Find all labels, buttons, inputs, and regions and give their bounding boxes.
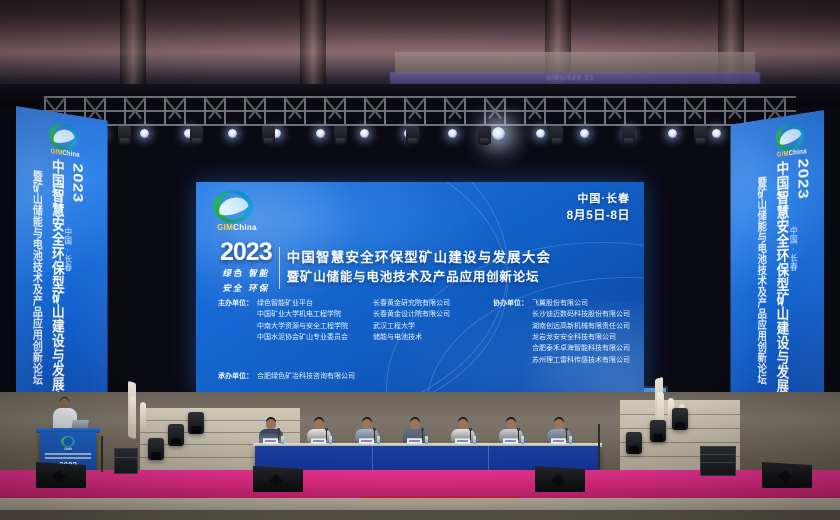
coorganizer-label: 协办单位： <box>493 298 528 366</box>
table-microphone <box>470 430 471 440</box>
host-organization: 中南大学资源与安全工程学院 <box>257 321 369 332</box>
stage-moving-head-light <box>148 438 164 460</box>
water-bottle <box>377 436 380 444</box>
light-stand <box>101 436 103 472</box>
truss-member <box>124 97 142 119</box>
wall-column <box>300 0 326 96</box>
moving-head-light <box>694 126 707 144</box>
moving-head-light <box>118 126 131 144</box>
stage-moving-head-light <box>626 432 642 454</box>
stage-light <box>668 129 677 138</box>
truss-member <box>364 97 382 119</box>
moving-head-light <box>478 126 491 144</box>
main-led-screen: GIMChina 中国·长春 8月5日-8日 2023 绿色 智能 安全 环保 … <box>196 182 644 392</box>
stage-monitor-speaker <box>36 462 86 488</box>
panelist-nameplate <box>311 438 326 444</box>
panelist-nameplate <box>455 438 470 444</box>
undertaker-label: 承办单位： <box>218 371 253 382</box>
truss-member <box>684 97 702 119</box>
table-microphone <box>566 430 567 440</box>
truss-member <box>404 97 422 119</box>
light-lens <box>629 446 639 454</box>
flight-case <box>700 446 736 476</box>
panelist-nameplate <box>263 438 278 444</box>
panelist-nameplate <box>551 438 566 444</box>
coorganizer-name: 苏州理工雷科传感技术有限公司 <box>532 355 630 366</box>
truss-member <box>604 97 622 119</box>
flight-case <box>114 448 138 474</box>
truss-member <box>564 97 582 119</box>
stage-light <box>360 129 369 138</box>
coorganizer-list: 飞翼股份有限公司长沙迪迈数码科技股份有限公司湖南创远高新机械有限责任公司龙岩龙安… <box>532 298 630 366</box>
truss-member <box>444 97 462 119</box>
light-lens <box>171 438 181 446</box>
truss-member <box>644 97 662 119</box>
host-organizations-col1: 绿色智能矿业平台中国矿业大学机电工程学院中南大学资源与安全工程学院中国水泥协会矿… <box>257 298 369 366</box>
banner-left-year: 2023 <box>69 162 85 203</box>
banner-right-city: 中国·长春 <box>789 226 797 271</box>
stage-front-edge <box>0 510 840 520</box>
gim-logo-icon: GIMChina <box>206 190 268 236</box>
ceiling-strip-text: SIRUS48 21 <box>405 73 735 84</box>
banner-left-city: 中国·长春 <box>64 227 72 271</box>
host-organization: 中国矿业大学机电工程学院 <box>257 309 369 320</box>
stage-light <box>580 129 589 138</box>
event-city: 中国·长春 <box>566 192 630 207</box>
truss-member <box>204 97 222 119</box>
truss-member <box>484 97 502 119</box>
moving-head-light <box>262 126 275 144</box>
event-dates: 8月5日-8日 <box>566 207 630 223</box>
banner-right-title-main: 中国智慧安全环保型矿山建设与发展大会 <box>776 160 789 422</box>
banner-right-year: 2023 <box>794 157 811 200</box>
gim-logo-gim-text: GIM <box>50 148 62 156</box>
coorganizer-name: 飞翼股份有限公司 <box>532 298 630 309</box>
event-title-sub: 暨矿山储能与电池技术及产品应用创新论坛 <box>287 269 552 285</box>
gim-logo-gim-text: GIM <box>777 151 789 159</box>
gim-logo-icon: GIMChina <box>42 120 87 159</box>
stage-light <box>492 127 505 140</box>
host-organization: 储能与电池技术 <box>373 332 483 343</box>
moving-head-light <box>406 126 419 144</box>
water-bottle <box>329 436 332 444</box>
panelist-nameplate <box>407 438 422 444</box>
stage-light <box>316 129 325 138</box>
undertaker-name: 合肥绿色矿冶科技咨询有限公司 <box>257 371 355 382</box>
stage-moving-head-light <box>188 412 204 434</box>
title-divider <box>279 247 280 289</box>
coorganizer-name: 湖南创远高新机械有限责任公司 <box>532 321 630 332</box>
coorganizer-name: 龙岩龙安安全科技有限公司 <box>532 332 630 343</box>
truss-member <box>324 97 342 119</box>
speaker-head <box>60 398 69 408</box>
stage-monitor-speaker <box>762 462 812 488</box>
moving-head-light <box>550 126 563 144</box>
table-microphone <box>518 430 519 440</box>
host-organizations-col2: 长春黄金研究院有限公司长春黄金设计院有限公司武汉工程大学储能与电池技术 <box>373 298 483 366</box>
event-title-block: 2023 绿色 智能 安全 环保 中国智慧安全环保型矿山建设与发展大会 暨矿山储… <box>220 240 551 296</box>
event-slogan-line1: 绿色 智能 <box>220 268 272 280</box>
water-bottle <box>473 436 476 444</box>
stage-light <box>140 129 149 138</box>
host-organization: 武汉工程大学 <box>373 321 483 332</box>
water-bottle <box>281 436 284 444</box>
panelist-nameplate <box>503 438 518 444</box>
table-microphone <box>374 430 375 440</box>
event-location-block: 中国·长春 8月5日-8日 <box>566 192 630 223</box>
event-year-block: 2023 绿色 智能 安全 环保 <box>220 240 272 296</box>
panelist-nameplate <box>359 438 374 444</box>
light-lens <box>653 434 663 442</box>
light-lens <box>191 426 201 434</box>
truss-member <box>164 97 182 119</box>
stage-light <box>448 129 457 138</box>
truss-member <box>764 97 782 119</box>
coorganizer-name: 合肥泰禾卓海智能科技有限公司 <box>532 343 630 354</box>
truss-member <box>244 97 262 119</box>
stage-moving-head-light <box>650 420 666 442</box>
event-year: 2023 <box>220 240 272 265</box>
sponsor-block: 主办单位： 绿色智能矿业平台中国矿业大学机电工程学院中南大学资源与安全工程学院中… <box>218 298 630 382</box>
stage-light <box>712 129 721 138</box>
host-organization: 长春黄金研究院有限公司 <box>373 298 483 309</box>
water-bottle <box>521 436 524 444</box>
moving-head-light <box>334 126 347 144</box>
table-microphone <box>326 430 327 440</box>
truss-member <box>284 97 302 119</box>
event-slogan-line2: 安全 环保 <box>220 283 272 295</box>
lighting-truss <box>44 96 796 126</box>
light-lens <box>151 452 161 460</box>
podium-logo-text: GIM <box>64 446 72 451</box>
truss-member <box>84 97 102 119</box>
gim-logo-china-text: China <box>233 223 257 232</box>
banner-left-title-main: 中国智慧安全环保型矿山建设与发展大会 <box>51 158 64 421</box>
host-organization: 绿色智能矿业平台 <box>257 298 369 309</box>
truss-member <box>724 97 742 119</box>
stage-light <box>228 129 237 138</box>
host-organization: 中国水泥协会矿山专业委员会 <box>257 332 369 343</box>
water-bottle <box>425 436 428 444</box>
table-microphone <box>422 430 423 440</box>
host-label: 主办单位： <box>218 298 253 366</box>
stage-light <box>536 129 545 138</box>
balustrade-post <box>140 402 146 428</box>
water-bottle <box>569 436 572 444</box>
balustrade-post <box>130 396 136 426</box>
banner-left-title-sub: 暨矿山储能与电池技术及产品应用创新论坛 <box>31 170 41 386</box>
stage-moving-head-light <box>672 408 688 430</box>
ceiling-beam <box>395 52 755 74</box>
conference-stage-photo: SIRUS48 21 GIMChina 2023 中国·长春 中国智慧安全环保型… <box>0 0 840 520</box>
coorganizer-name: 长沙迪迈数码科技股份有限公司 <box>532 309 630 320</box>
gim-logo-gim-text: GIM <box>217 223 233 232</box>
event-title-main: 中国智慧安全环保型矿山建设与发展大会 <box>287 250 552 267</box>
host-organization: 长春黄金设计院有限公司 <box>373 309 483 320</box>
light-lens <box>675 422 685 430</box>
stage-monitor-speaker <box>253 466 303 492</box>
table-microphone <box>278 430 279 440</box>
stage-monitor-speaker <box>535 466 585 492</box>
gim-logo-icon: GIM <box>58 436 78 450</box>
gim-logo-icon: GIMChina <box>769 119 815 158</box>
stage-moving-head-light <box>168 424 184 446</box>
light-stand <box>598 424 600 468</box>
wall-column <box>120 0 146 96</box>
banner-right-title-sub: 暨矿山储能与电池技术及产品应用创新论坛 <box>756 176 766 384</box>
truss-member <box>524 97 542 119</box>
moving-head-light <box>622 126 635 144</box>
moving-head-light <box>190 126 203 144</box>
